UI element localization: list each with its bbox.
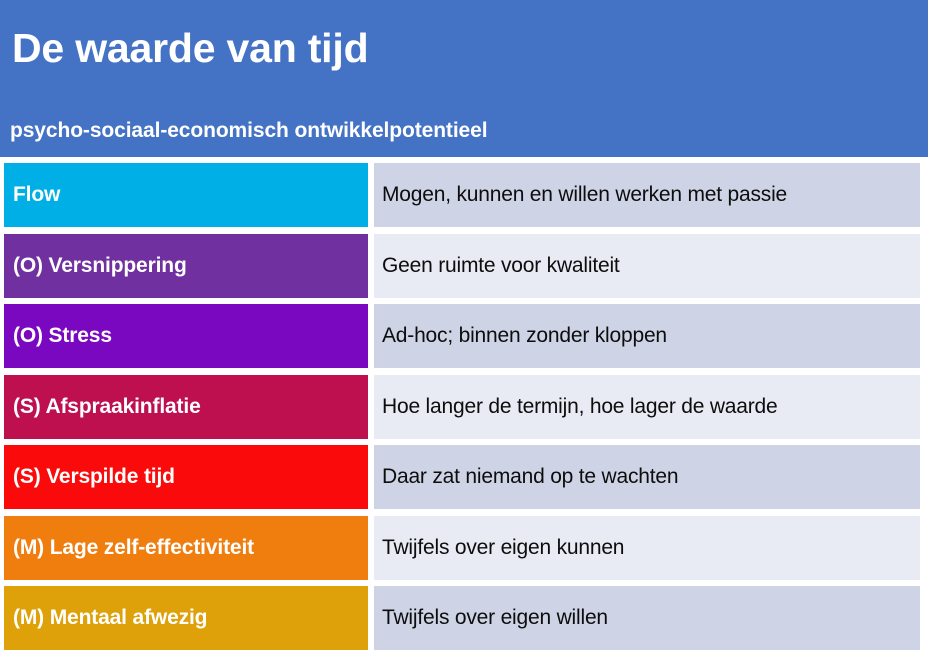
row-description-cell: Mogen, kunnen en willen werken met passi… bbox=[374, 163, 920, 227]
row-label-cell: (S) Verspilde tijd bbox=[4, 445, 368, 509]
slide: De waarde van tijd psycho-sociaal-econom… bbox=[0, 0, 928, 658]
row-description-cell: Hoe langer de termijn, hoe lager de waar… bbox=[374, 375, 920, 439]
value-of-time-table: FlowMogen, kunnen en willen werken met p… bbox=[0, 163, 928, 658]
row-description-cell: Twijfels over eigen willen bbox=[374, 586, 920, 650]
table-row: FlowMogen, kunnen en willen werken met p… bbox=[0, 163, 928, 227]
header-banner: De waarde van tijd psycho-sociaal-econom… bbox=[0, 0, 928, 157]
table-row: (S) Verspilde tijdDaar zat niemand op te… bbox=[0, 445, 928, 509]
row-label-cell: (M) Mentaal afwezig bbox=[4, 586, 368, 650]
table-row: (M) Mentaal afwezigTwijfels over eigen w… bbox=[0, 586, 928, 650]
row-description-cell: Twijfels over eigen kunnen bbox=[374, 516, 920, 580]
page-title: De waarde van tijd bbox=[12, 27, 368, 70]
table-row: (M) Lage zelf-effectiviteitTwijfels over… bbox=[0, 516, 928, 580]
row-label-cell: (S) Afspraakinflatie bbox=[4, 375, 368, 439]
table-row: (O) VersnipperingGeen ruimte voor kwalit… bbox=[0, 234, 928, 298]
row-label-cell: (O) Stress bbox=[4, 304, 368, 368]
row-label-cell: (M) Lage zelf-effectiviteit bbox=[4, 516, 368, 580]
row-label-cell: Flow bbox=[4, 163, 368, 227]
row-description-cell: Ad-hoc; binnen zonder kloppen bbox=[374, 304, 920, 368]
table-row: (O) StressAd-hoc; binnen zonder kloppen bbox=[0, 304, 928, 368]
page-subtitle: psycho-sociaal-economisch ontwikkelpoten… bbox=[10, 119, 487, 143]
row-label-cell: (O) Versnippering bbox=[4, 234, 368, 298]
row-description-cell: Geen ruimte voor kwaliteit bbox=[374, 234, 920, 298]
row-description-cell: Daar zat niemand op te wachten bbox=[374, 445, 920, 509]
table-row: (S) AfspraakinflatieHoe langer de termij… bbox=[0, 375, 928, 439]
